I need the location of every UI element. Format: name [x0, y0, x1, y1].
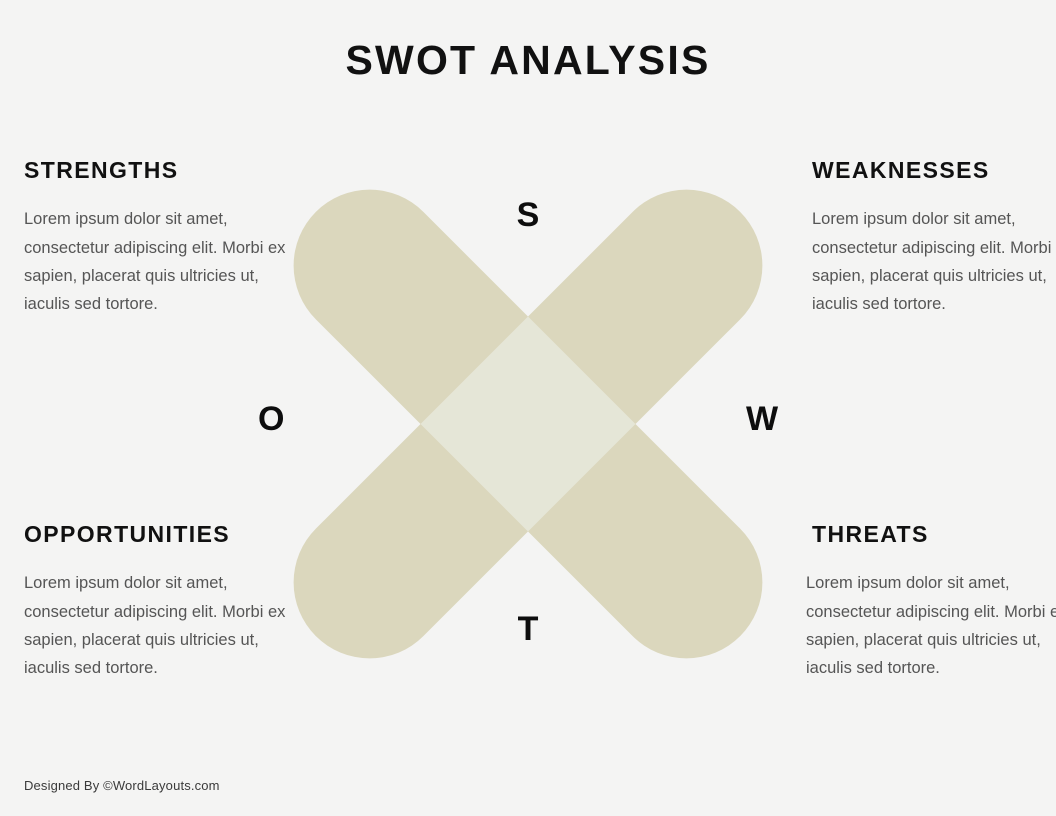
- quadrant-weaknesses-heading: WEAKNESSES: [812, 158, 1056, 183]
- quadrant-threats-heading: THREATS: [812, 522, 1056, 547]
- page-title: SWOT ANALYSIS: [0, 38, 1056, 83]
- quadrant-weaknesses-body: Lorem ipsum dolor sit amet, consectetur …: [812, 205, 1056, 319]
- quadrant-opportunities: OPPORTUNITIES Lorem ipsum dolor sit amet…: [24, 522, 294, 683]
- quadrant-threats: THREATS Lorem ipsum dolor sit amet, cons…: [806, 522, 1056, 683]
- letter-o: O: [258, 402, 284, 436]
- quadrant-opportunities-body: Lorem ipsum dolor sit amet, consectetur …: [24, 569, 294, 683]
- quadrant-weaknesses: WEAKNESSES Lorem ipsum dolor sit amet, c…: [812, 158, 1056, 319]
- quadrant-strengths-heading: STRENGTHS: [24, 158, 294, 183]
- letter-w: W: [746, 402, 778, 436]
- footer-credit: Designed By ©WordLayouts.com: [24, 778, 220, 793]
- quadrant-opportunities-heading: OPPORTUNITIES: [24, 522, 294, 547]
- quadrant-threats-body: Lorem ipsum dolor sit amet, consectetur …: [806, 569, 1056, 683]
- quadrant-strengths: STRENGTHS Lorem ipsum dolor sit amet, co…: [24, 158, 294, 319]
- quadrant-strengths-body: Lorem ipsum dolor sit amet, consectetur …: [24, 205, 294, 319]
- swot-poster: SWOT ANALYSIS S O W T STRENGTHS Lorem ip…: [0, 0, 1056, 816]
